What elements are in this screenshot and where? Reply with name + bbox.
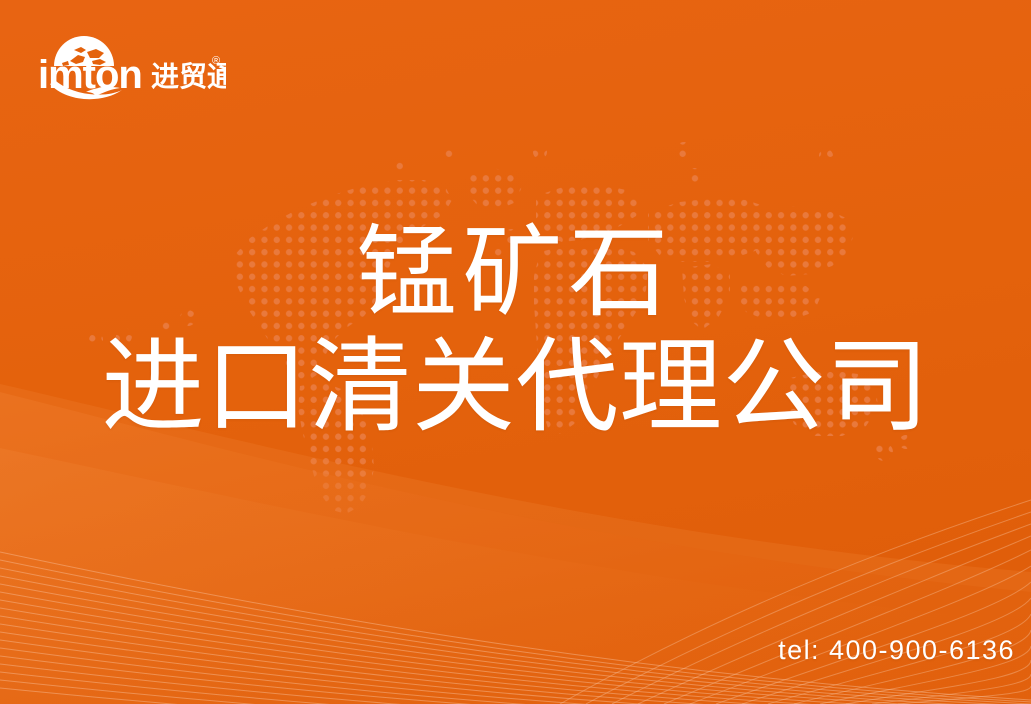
trademark-symbol: ® xyxy=(212,55,220,67)
page-title: 锰矿石 进口清关代理公司 xyxy=(0,222,1031,439)
brand-latin-text: imton xyxy=(38,53,142,97)
brand-logo-graphic: imton 进贸通 ® xyxy=(36,26,226,102)
title-line-1: 锰矿石 xyxy=(0,222,1031,324)
promo-banner: imton 进贸通 ® 锰矿石 进口清关代理公司 tel: 400-900-61… xyxy=(0,0,1031,704)
brand-logo[interactable]: imton 进贸通 ® xyxy=(36,26,226,102)
title-line-2: 进口清关代理公司 xyxy=(0,334,1031,439)
contact-phone[interactable]: tel: 400-900-6136 xyxy=(778,635,1015,666)
